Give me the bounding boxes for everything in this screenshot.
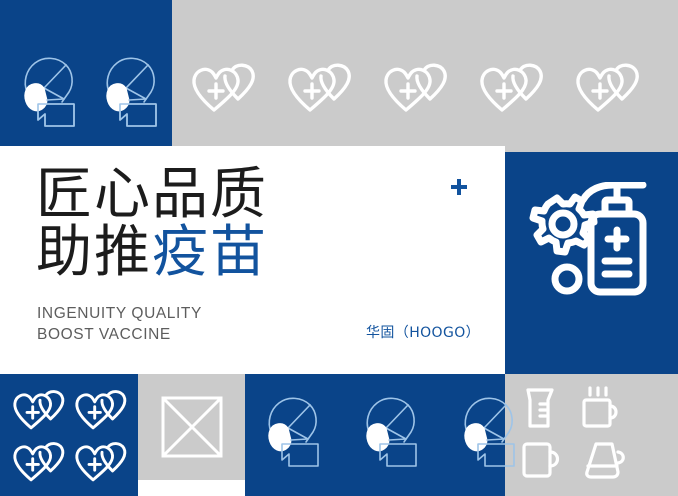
double-heart-plus-icon (380, 60, 454, 116)
mug-icon (520, 438, 564, 482)
bottom-left-white-strip (138, 480, 245, 496)
masked-head-icon (258, 392, 328, 472)
headline-line-2-accent: 疫苗 (152, 220, 268, 285)
double-heart-plus-icon (476, 60, 550, 116)
subtitle-line-1: INGENUITY QUALITY (37, 303, 202, 324)
headline-line-1: 匠心品质 (36, 166, 268, 224)
beaker-icon (520, 386, 560, 430)
dispenser-label-marks (605, 230, 629, 274)
masked-head-icon (454, 392, 524, 472)
ring-icon (555, 267, 579, 291)
double-heart-plus-icon (284, 60, 358, 116)
gear-icon (533, 197, 594, 252)
kettle-icon (582, 438, 628, 482)
headline-line-2: 助推疫苗 (36, 224, 268, 282)
headline-block: 匠心品质 助推疫苗 (36, 166, 268, 282)
subtitle-block: INGENUITY QUALITY BOOST VACCINE (37, 303, 202, 346)
masked-head-icon (356, 392, 426, 472)
brand-name: 华固（HOOGO） (366, 322, 480, 342)
dispenser-illustration (527, 182, 657, 319)
subtitle-line-2: BOOST VACCINE (37, 324, 202, 345)
top-left-mask-group (14, 52, 166, 132)
plus-mark-icon (450, 178, 468, 196)
double-heart-plus-icon (72, 438, 132, 486)
masked-head-icon (96, 52, 166, 132)
double-heart-plus-icon (10, 386, 70, 434)
hot-cup-icon (578, 386, 624, 430)
double-heart-plus-icon (572, 60, 646, 116)
bottom-mask-group (258, 392, 524, 472)
headline-line-2-black: 助推 (36, 220, 152, 285)
masked-head-icon (14, 52, 84, 132)
poster-canvas: 匠心品质 助推疫苗 INGENUITY QUALITY BOOST VACCIN… (0, 0, 678, 496)
top-band-heart-group (188, 60, 646, 116)
double-heart-plus-icon (188, 60, 262, 116)
image-placeholder-icon (161, 396, 223, 458)
bottom-left-heart-group (10, 386, 136, 486)
bottom-right-vessel-group (520, 386, 670, 482)
double-heart-plus-icon (10, 438, 70, 486)
double-heart-plus-icon (72, 386, 132, 434)
